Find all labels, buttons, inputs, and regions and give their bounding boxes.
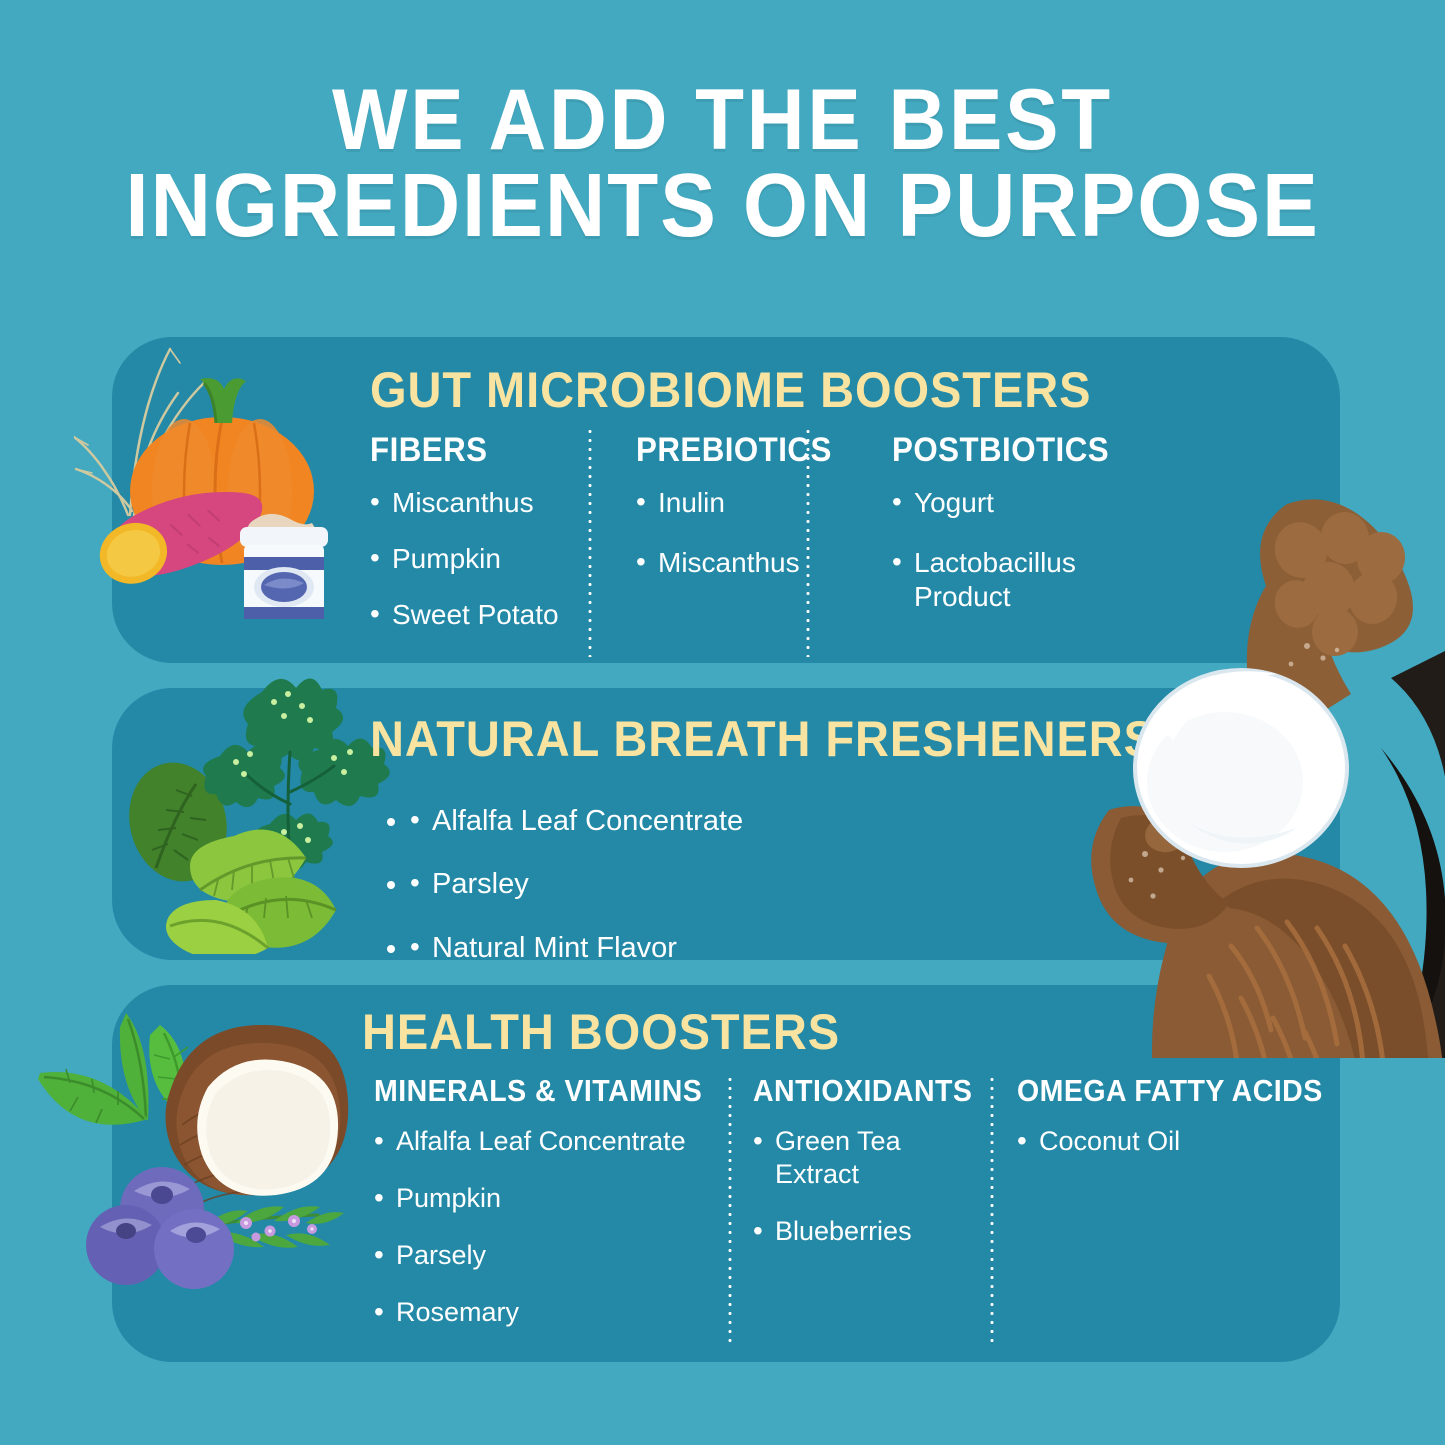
column-title-omega-fatty-acids: OMEGA FATTY ACIDS: [1017, 1073, 1311, 1109]
list-minerals-vitamins: Alfalfa Leaf Concentrate Pumpkin Parsely…: [374, 1125, 719, 1329]
list-item: Pumpkin: [370, 542, 600, 576]
column-prebiotics: PREBIOTICS Inulin Miscanthus: [636, 431, 856, 654]
list-item: Pumpkin: [374, 1182, 719, 1215]
parsley-mint-leaves-icon: [112, 654, 392, 954]
list-breath-fresheners: Alfalfa Leaf Concentrate Parsley Natural…: [370, 804, 1110, 994]
coconut-blueberry-rosemary-icon: [30, 995, 360, 1295]
card-heading-breath: NATURAL BREATH FRESHENERS: [370, 710, 1156, 768]
columns-health: MINERALS & VITAMINS Alfalfa Leaf Concent…: [374, 1073, 1337, 1353]
infographic-canvas: WE ADD THE BEST INGREDIENTS ON PURPOSE: [0, 0, 1445, 1445]
list-item: Sweet Potato: [370, 598, 600, 632]
list-item: Alfalfa Leaf Concentrate: [410, 804, 1110, 839]
column-divider: [588, 427, 592, 657]
list-item: Coconut Oil: [1017, 1125, 1337, 1158]
title-line-1: WE ADD THE BEST: [332, 72, 1113, 168]
list-item: Green Tea Extract: [753, 1125, 981, 1191]
page-title: WE ADD THE BEST INGREDIENTS ON PURPOSE: [51, 78, 1395, 250]
columns-gut: FIBERS Miscanthus Pumpkin Sweet Potato P…: [370, 431, 1142, 654]
card-heading-gut: GUT MICROBIOME BOOSTERS: [370, 361, 1091, 419]
column-title-minerals-vitamins: MINERALS & VITAMINS: [374, 1073, 691, 1109]
column-title-antioxidants: ANTIOXIDANTS: [753, 1073, 963, 1109]
title-line-2: INGREDIENTS ON PURPOSE: [51, 162, 1395, 250]
column-fibers: FIBERS Miscanthus Pumpkin Sweet Potato: [370, 431, 600, 654]
card-heading-health: HEALTH BOOSTERS: [362, 1003, 840, 1061]
list-fibers: Miscanthus Pumpkin Sweet Potato: [370, 486, 600, 632]
column-omega-fatty-acids: OMEGA FATTY ACIDS Coconut Oil: [1017, 1073, 1337, 1353]
pumpkin-sweet-potato-yogurt-icon: [74, 319, 364, 619]
list-antioxidants: Green Tea Extract Blueberries: [753, 1125, 981, 1248]
column-minerals-vitamins: MINERALS & VITAMINS Alfalfa Leaf Concent…: [374, 1073, 719, 1353]
list-item: Parsely: [374, 1239, 719, 1272]
column-title-fibers: FIBERS: [370, 431, 582, 470]
column-divider: [806, 427, 810, 657]
dog-paw-with-treat-icon: [1091, 498, 1445, 1058]
list-item: Alfalfa Leaf Concentrate: [374, 1125, 719, 1158]
list-item: Blueberries: [753, 1215, 981, 1248]
list-item: Parsley: [410, 867, 1110, 902]
list-item: Natural Mint Flavor: [410, 931, 1110, 966]
list-item: Miscanthus: [636, 546, 856, 580]
column-antioxidants: ANTIOXIDANTS Green Tea Extract Blueberri…: [753, 1073, 981, 1353]
list-item: Inulin: [636, 486, 856, 520]
column-divider: [728, 1075, 732, 1347]
list-omega-fatty-acids: Coconut Oil: [1017, 1125, 1337, 1158]
list-prebiotics: Inulin Miscanthus: [636, 486, 856, 580]
list-item: Rosemary: [374, 1296, 719, 1329]
column-title-postbiotics: POSTBIOTICS: [892, 431, 1122, 470]
column-divider: [990, 1075, 994, 1347]
list-item: Miscanthus: [370, 486, 600, 520]
